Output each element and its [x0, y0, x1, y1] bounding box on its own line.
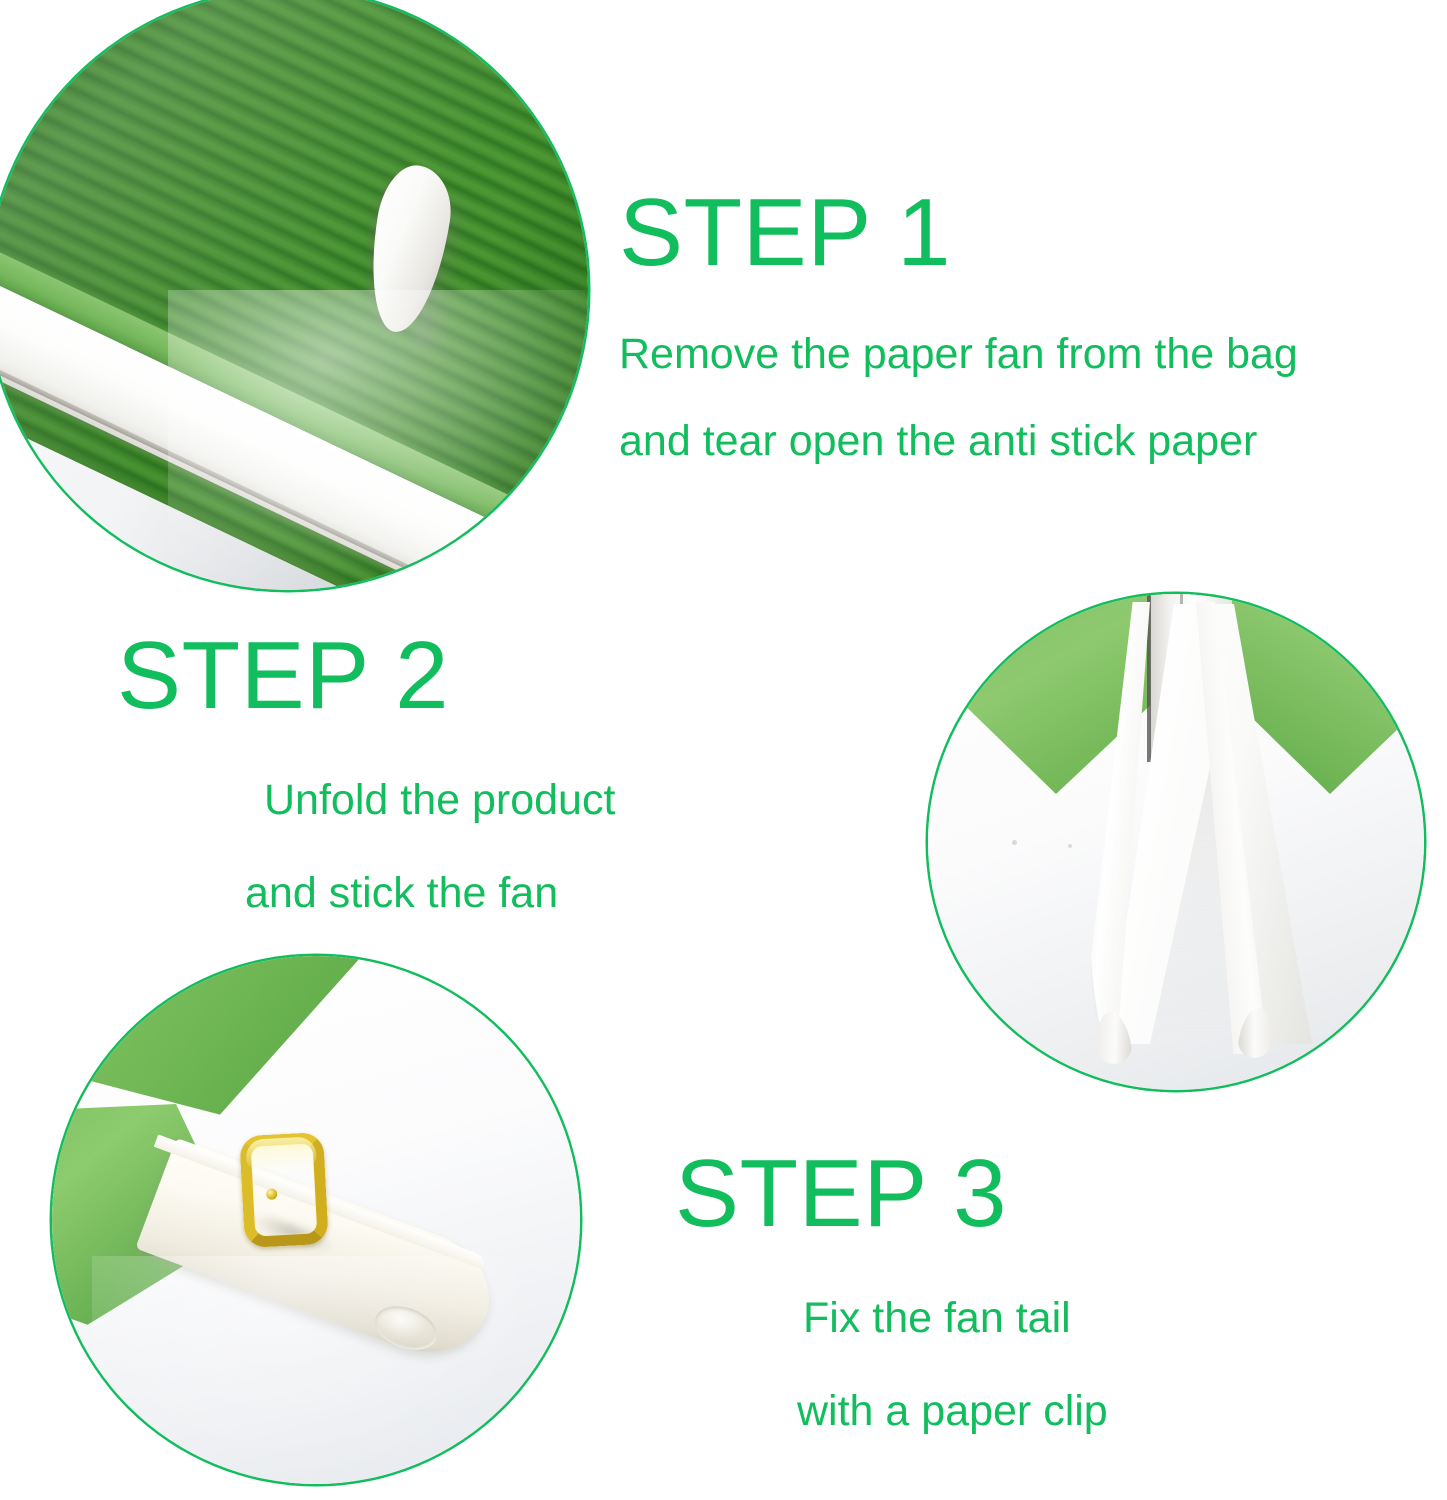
surface-speck-one [1012, 840, 1017, 845]
surface-gloss-reflection [92, 1256, 552, 1484]
step-1-description-line-1: Remove the paper fan from the bag [619, 333, 1298, 376]
gold-paper-clip [239, 1132, 329, 1248]
step-1-description-line-2: and tear open the anti stick paper [619, 420, 1298, 463]
step-2-text-block: STEP 2 Unfold the product and stick the … [117, 628, 615, 918]
step-2-title: STEP 2 [117, 628, 615, 724]
surface-gloss-reflection [168, 290, 588, 590]
photo-circle-step-3 [52, 956, 580, 1484]
step-3-description-line-2: with a paper clip [797, 1387, 1108, 1436]
step-3-description-line-1: Fix the fan tail [803, 1294, 1108, 1343]
step-3-title: STEP 3 [675, 1146, 1108, 1242]
step-3-text-block: STEP 3 Fix the fan tail with a paper cli… [675, 1146, 1108, 1436]
photo-fan-tail-with-gold-paper-clip [52, 956, 580, 1484]
surface-speck-two [1068, 844, 1072, 848]
photo-green-pleated-fan-with-peeling-liner [0, 0, 588, 590]
step-1-title: STEP 1 [619, 185, 1298, 281]
step-2-description-line-1: Unfold the product [264, 776, 615, 825]
step-2-description-line-2: and stick the fan [245, 869, 615, 918]
photo-circle-step-1 [0, 0, 588, 590]
photo-unfolded-fan-two-white-legs [928, 594, 1424, 1090]
photo-circle-step-2 [928, 594, 1424, 1090]
step-1-text-block: STEP 1 Remove the paper fan from the bag… [619, 185, 1298, 463]
